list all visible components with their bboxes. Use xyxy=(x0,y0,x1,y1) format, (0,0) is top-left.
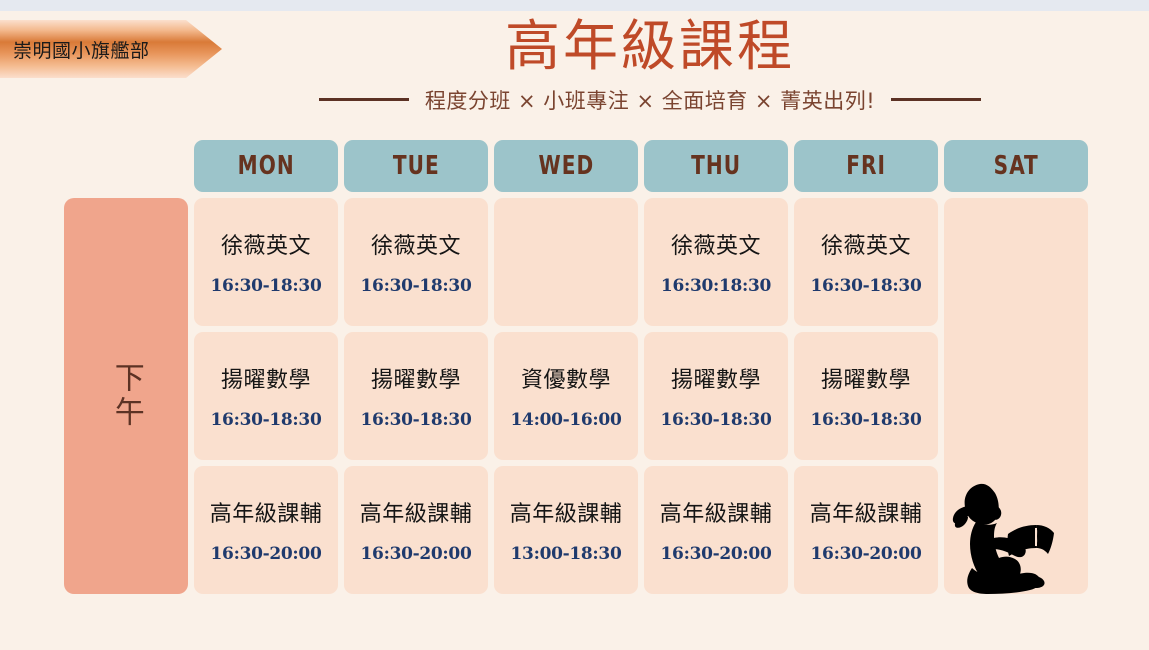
class-time: 16:30-18:30 xyxy=(211,410,322,430)
subtitle-rule-left xyxy=(319,98,409,101)
class-cell[interactable]: 徐薇英文 16:30-18:30 xyxy=(344,198,488,326)
subtitle-row: 程度分班 × 小班專注 × 全面培育 × 菁英出列! xyxy=(260,85,1040,115)
class-time: 14:00-16:00 xyxy=(511,410,622,430)
class-time: 16:30-18:30 xyxy=(361,276,472,296)
day-header-mon-label: MON xyxy=(237,151,294,181)
day-header-thu-label: THU xyxy=(691,151,741,181)
branch-banner-ribbon: 崇明國小旗艦部 xyxy=(0,20,222,78)
class-cell[interactable]: 揚曜數學 16:30-18:30 xyxy=(344,332,488,460)
class-time: 16:30-18:30 xyxy=(811,276,922,296)
schedule-body: 下午 徐薇英文 16:30-18:30 揚曜數學 16:30-18:30 高年級… xyxy=(64,198,1088,594)
branch-banner-label: 崇明國小旗艦部 xyxy=(0,36,150,63)
class-time: 16:30-20:00 xyxy=(211,544,322,564)
day-columns: 徐薇英文 16:30-18:30 揚曜數學 16:30-18:30 高年級課輔 … xyxy=(194,198,1088,594)
class-course-name: 高年級課輔 xyxy=(360,496,473,528)
day-column-thu: 徐薇英文 16:30:18:30 揚曜數學 16:30-18:30 高年級課輔 … xyxy=(644,198,788,594)
day-column-sat xyxy=(944,198,1088,594)
page-title: 高年級課程 xyxy=(260,18,1040,76)
schedule-table: MON TUE WED THU FRI SAT 下午 徐薇英文 16:30-18… xyxy=(64,140,1088,594)
saturday-panel[interactable] xyxy=(944,198,1088,594)
class-cell[interactable]: 徐薇英文 16:30-18:30 xyxy=(794,198,938,326)
page-subtitle: 程度分班 × 小班專注 × 全面培育 × 菁英出列! xyxy=(425,85,875,115)
class-cell-empty[interactable] xyxy=(494,198,638,326)
class-cell[interactable]: 揚曜數學 16:30-18:30 xyxy=(644,332,788,460)
subtitle-rule-right xyxy=(891,98,981,101)
class-cell[interactable]: 揚曜數學 16:30-18:30 xyxy=(794,332,938,460)
top-strip xyxy=(0,0,1149,11)
day-column-fri: 徐薇英文 16:30-18:30 揚曜數學 16:30-18:30 高年級課輔 … xyxy=(794,198,938,594)
class-cell[interactable]: 高年級課輔 16:30-20:00 xyxy=(194,466,338,594)
class-course-name: 高年級課輔 xyxy=(510,496,623,528)
class-cell[interactable]: 資優數學 14:00-16:00 xyxy=(494,332,638,460)
class-time: 16:30:18:30 xyxy=(661,276,771,296)
day-header-fri-label: FRI xyxy=(846,151,886,181)
day-header-sat-label: SAT xyxy=(993,151,1038,181)
class-time: 16:30-20:00 xyxy=(811,544,922,564)
class-time: 16:30-18:30 xyxy=(811,410,922,430)
period-panel-label: 下午 xyxy=(104,362,148,430)
class-time: 16:30-20:00 xyxy=(661,544,772,564)
class-course-name: 徐薇英文 xyxy=(371,228,461,260)
day-header-tue: TUE xyxy=(344,140,488,192)
day-header-mon: MON xyxy=(194,140,338,192)
class-time: 16:30-18:30 xyxy=(211,276,322,296)
class-course-name: 高年級課輔 xyxy=(810,496,923,528)
day-column-tue: 徐薇英文 16:30-18:30 揚曜數學 16:30-18:30 高年級課輔 … xyxy=(344,198,488,594)
class-course-name: 揚曜數學 xyxy=(821,362,911,394)
class-course-name: 徐薇英文 xyxy=(821,228,911,260)
day-header-wed: WED xyxy=(494,140,638,192)
class-cell[interactable]: 揚曜數學 16:30-18:30 xyxy=(194,332,338,460)
class-time: 16:30-18:30 xyxy=(661,410,772,430)
child-reading-book-silhouette-icon xyxy=(950,476,1058,594)
class-course-name: 高年級課輔 xyxy=(210,496,323,528)
class-cell[interactable]: 徐薇英文 16:30-18:30 xyxy=(194,198,338,326)
day-header-tue-label: TUE xyxy=(393,151,440,181)
day-column-mon: 徐薇英文 16:30-18:30 揚曜數學 16:30-18:30 高年級課輔 … xyxy=(194,198,338,594)
class-cell[interactable]: 徐薇英文 16:30:18:30 xyxy=(644,198,788,326)
class-course-name: 徐薇英文 xyxy=(221,228,311,260)
class-cell[interactable]: 高年級課輔 16:30-20:00 xyxy=(794,466,938,594)
period-panel-afternoon: 下午 xyxy=(64,198,188,594)
day-header-fri: FRI xyxy=(794,140,938,192)
class-course-name: 徐薇英文 xyxy=(671,228,761,260)
weekday-header-row: MON TUE WED THU FRI SAT xyxy=(194,140,1088,192)
day-header-thu: THU xyxy=(644,140,788,192)
day-header-wed-label: WED xyxy=(538,151,594,181)
class-cell[interactable]: 高年級課輔 13:00-18:30 xyxy=(494,466,638,594)
class-cell[interactable]: 高年級課輔 16:30-20:00 xyxy=(644,466,788,594)
class-course-name: 揚曜數學 xyxy=(671,362,761,394)
title-block: 高年級課程 程度分班 × 小班專注 × 全面培育 × 菁英出列! xyxy=(260,18,1040,115)
class-time: 16:30-18:30 xyxy=(361,410,472,430)
class-course-name: 高年級課輔 xyxy=(660,496,773,528)
class-course-name: 揚曜數學 xyxy=(221,362,311,394)
day-header-sat: SAT xyxy=(944,140,1088,192)
class-time: 13:00-18:30 xyxy=(511,544,622,564)
class-course-name: 揚曜數學 xyxy=(371,362,461,394)
class-time: 16:30-20:00 xyxy=(361,544,472,564)
class-course-name: 資優數學 xyxy=(521,362,611,394)
day-column-wed: 資優數學 14:00-16:00 高年級課輔 13:00-18:30 xyxy=(494,198,638,594)
class-cell[interactable]: 高年級課輔 16:30-20:00 xyxy=(344,466,488,594)
